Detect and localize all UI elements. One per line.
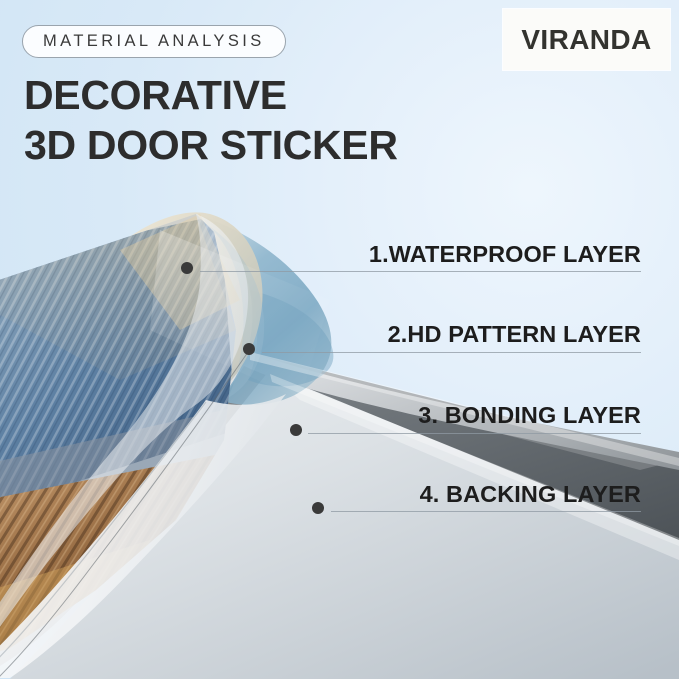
- page-title-line-1: DECORATIVE: [24, 72, 287, 118]
- marker-dot-bonding: [290, 424, 302, 436]
- callout-backing: 4. BACKING LAYER: [420, 481, 641, 508]
- leader-line-waterproof: [200, 271, 641, 272]
- page-title-line-2: 3D DOOR STICKER: [24, 120, 398, 170]
- marker-dot-waterproof: [181, 262, 193, 274]
- marker-dot-backing: [312, 502, 324, 514]
- callout-backing-label: 4. BACKING LAYER: [420, 481, 641, 508]
- leader-line-pattern: [262, 352, 641, 353]
- callout-bonding-label: 3. BONDING LAYER: [418, 402, 641, 429]
- leader-line-backing: [331, 511, 641, 512]
- brand-logo-box: VIRANDA: [503, 9, 670, 70]
- callout-bonding: 3. BONDING LAYER: [418, 402, 641, 429]
- callout-pattern: 2.HD PATTERN LAYER: [388, 321, 641, 348]
- brand-name: VIRANDA: [521, 24, 651, 56]
- page-title: DECORATIVE 3D DOOR STICKER: [24, 70, 398, 170]
- callout-pattern-label: 2.HD PATTERN LAYER: [388, 321, 641, 348]
- marker-dot-pattern: [243, 343, 255, 355]
- leader-line-bonding: [308, 433, 641, 434]
- callout-waterproof: 1.WATERPROOF LAYER: [369, 241, 641, 268]
- callout-waterproof-label: 1.WATERPROOF LAYER: [369, 241, 641, 268]
- infographic-canvas: MATERIAL ANALYSIS DECORATIVE 3D DOOR STI…: [0, 0, 679, 679]
- eyebrow-badge: MATERIAL ANALYSIS: [22, 25, 286, 58]
